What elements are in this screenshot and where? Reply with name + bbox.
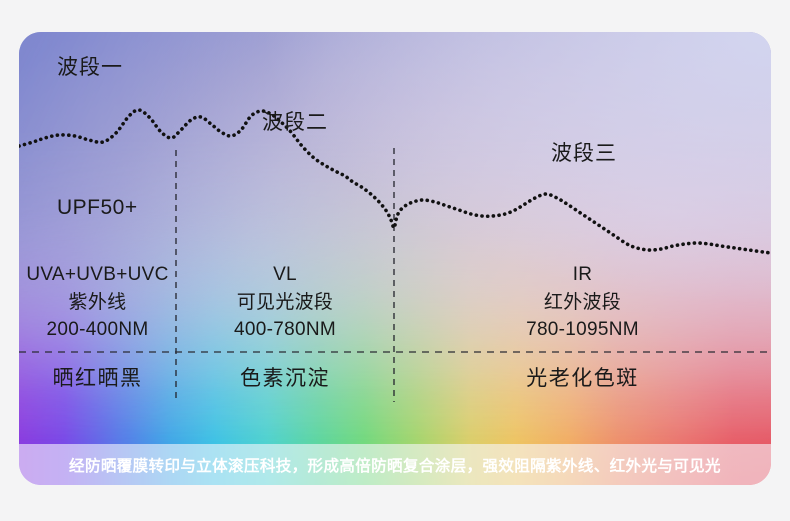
caption-banner-text: 经防晒覆膜转印与立体滚压科技，形成高倍防晒复合涂层，强效阻隔紫外线、红外光与可见…	[69, 454, 721, 476]
band-three-info: IR 红外波段 780-1095NM	[394, 261, 771, 344]
band-three-abbr: IR	[394, 261, 771, 289]
band-one-abbr: UVA+UVB+UVC	[19, 261, 176, 289]
band-two-info: VL 可见光波段 400-780NM	[176, 261, 394, 344]
band-three-effect: 光老化色斑	[394, 368, 771, 389]
band-two-abbr: VL	[176, 261, 394, 289]
band-three-name: 红外波段	[394, 289, 771, 317]
band-three-range: 780-1095NM	[394, 316, 771, 344]
upf-rating-label: UPF50+	[57, 197, 138, 218]
band-title-two: 波段二	[262, 112, 328, 133]
band-title-one: 波段一	[57, 57, 123, 78]
band-one-name: 紫外线	[19, 289, 176, 317]
caption-banner: 经防晒覆膜转印与立体滚压科技，形成高倍防晒复合涂层，强效阻隔紫外线、红外光与可见…	[19, 444, 771, 485]
band-one-info: UVA+UVB+UVC 紫外线 200-400NM	[19, 261, 176, 344]
band-two-range: 400-780NM	[176, 316, 394, 344]
band-two-name: 可见光波段	[176, 289, 394, 317]
spectrum-card: 波段一 波段二 波段三 UPF50+ UVA+UVB+UVC 紫外线 200-4…	[19, 32, 771, 485]
chart-overlay	[19, 32, 771, 485]
band-one-effect: 晒红晒黑	[19, 368, 176, 389]
band-two-effect: 色素沉淀	[176, 368, 394, 389]
attenuation-curve	[19, 110, 771, 253]
band-one-range: 200-400NM	[19, 316, 176, 344]
band-title-three: 波段三	[551, 143, 617, 164]
